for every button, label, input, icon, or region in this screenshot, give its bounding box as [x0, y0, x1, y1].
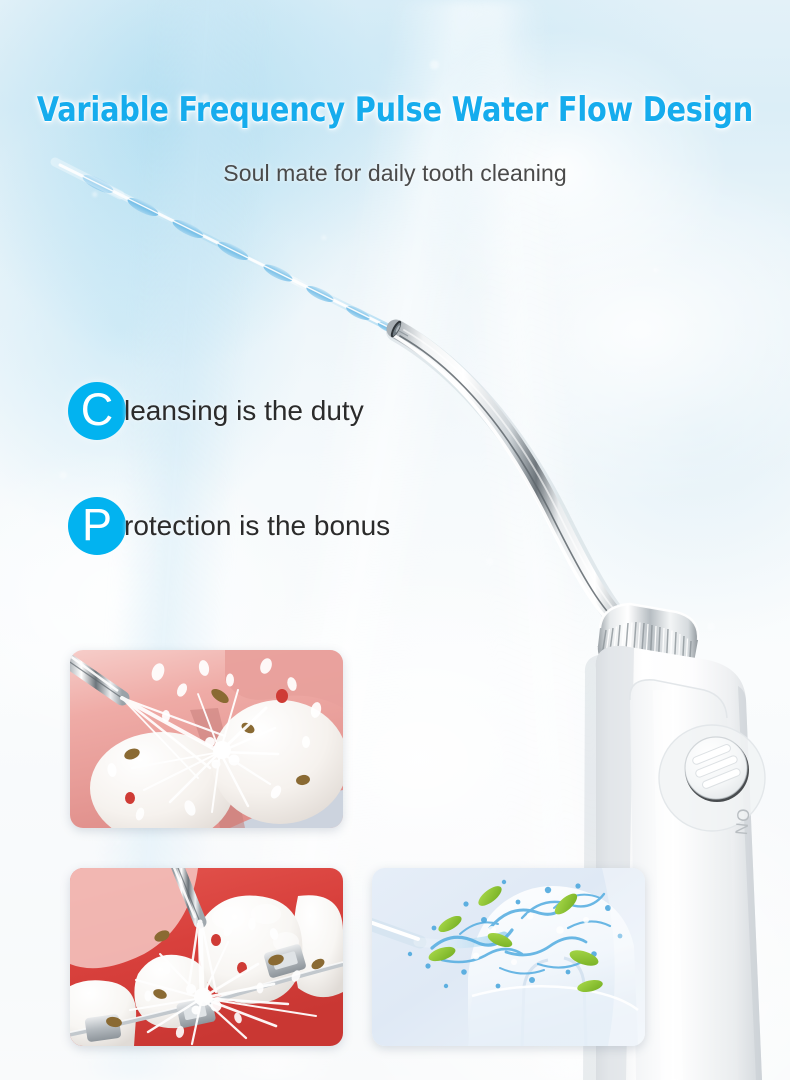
- feature-item-protection: P rotection is the bonus: [68, 497, 390, 555]
- badge-letter-c: C: [68, 382, 126, 440]
- page-title: Variable Frequency Pulse Water Flow Desi…: [24, 90, 767, 130]
- feature-item-cleansing: C leansing is the duty: [68, 382, 364, 440]
- feature-text-cleansing: leansing is the duty: [124, 395, 364, 427]
- page-subtitle: Soul mate for daily tooth cleaning: [0, 160, 790, 187]
- product-banner: Variable Frequency Pulse Water Flow Desi…: [0, 0, 790, 1080]
- feature-text-protection: rotection is the bonus: [124, 510, 390, 542]
- badge-letter-p: P: [68, 497, 126, 555]
- thumbnail-fresh-water-splash: [372, 868, 645, 1046]
- thumbnail-teeth-gum-cleaning: [70, 650, 343, 828]
- thumbnail-braces-cleaning: [70, 868, 343, 1046]
